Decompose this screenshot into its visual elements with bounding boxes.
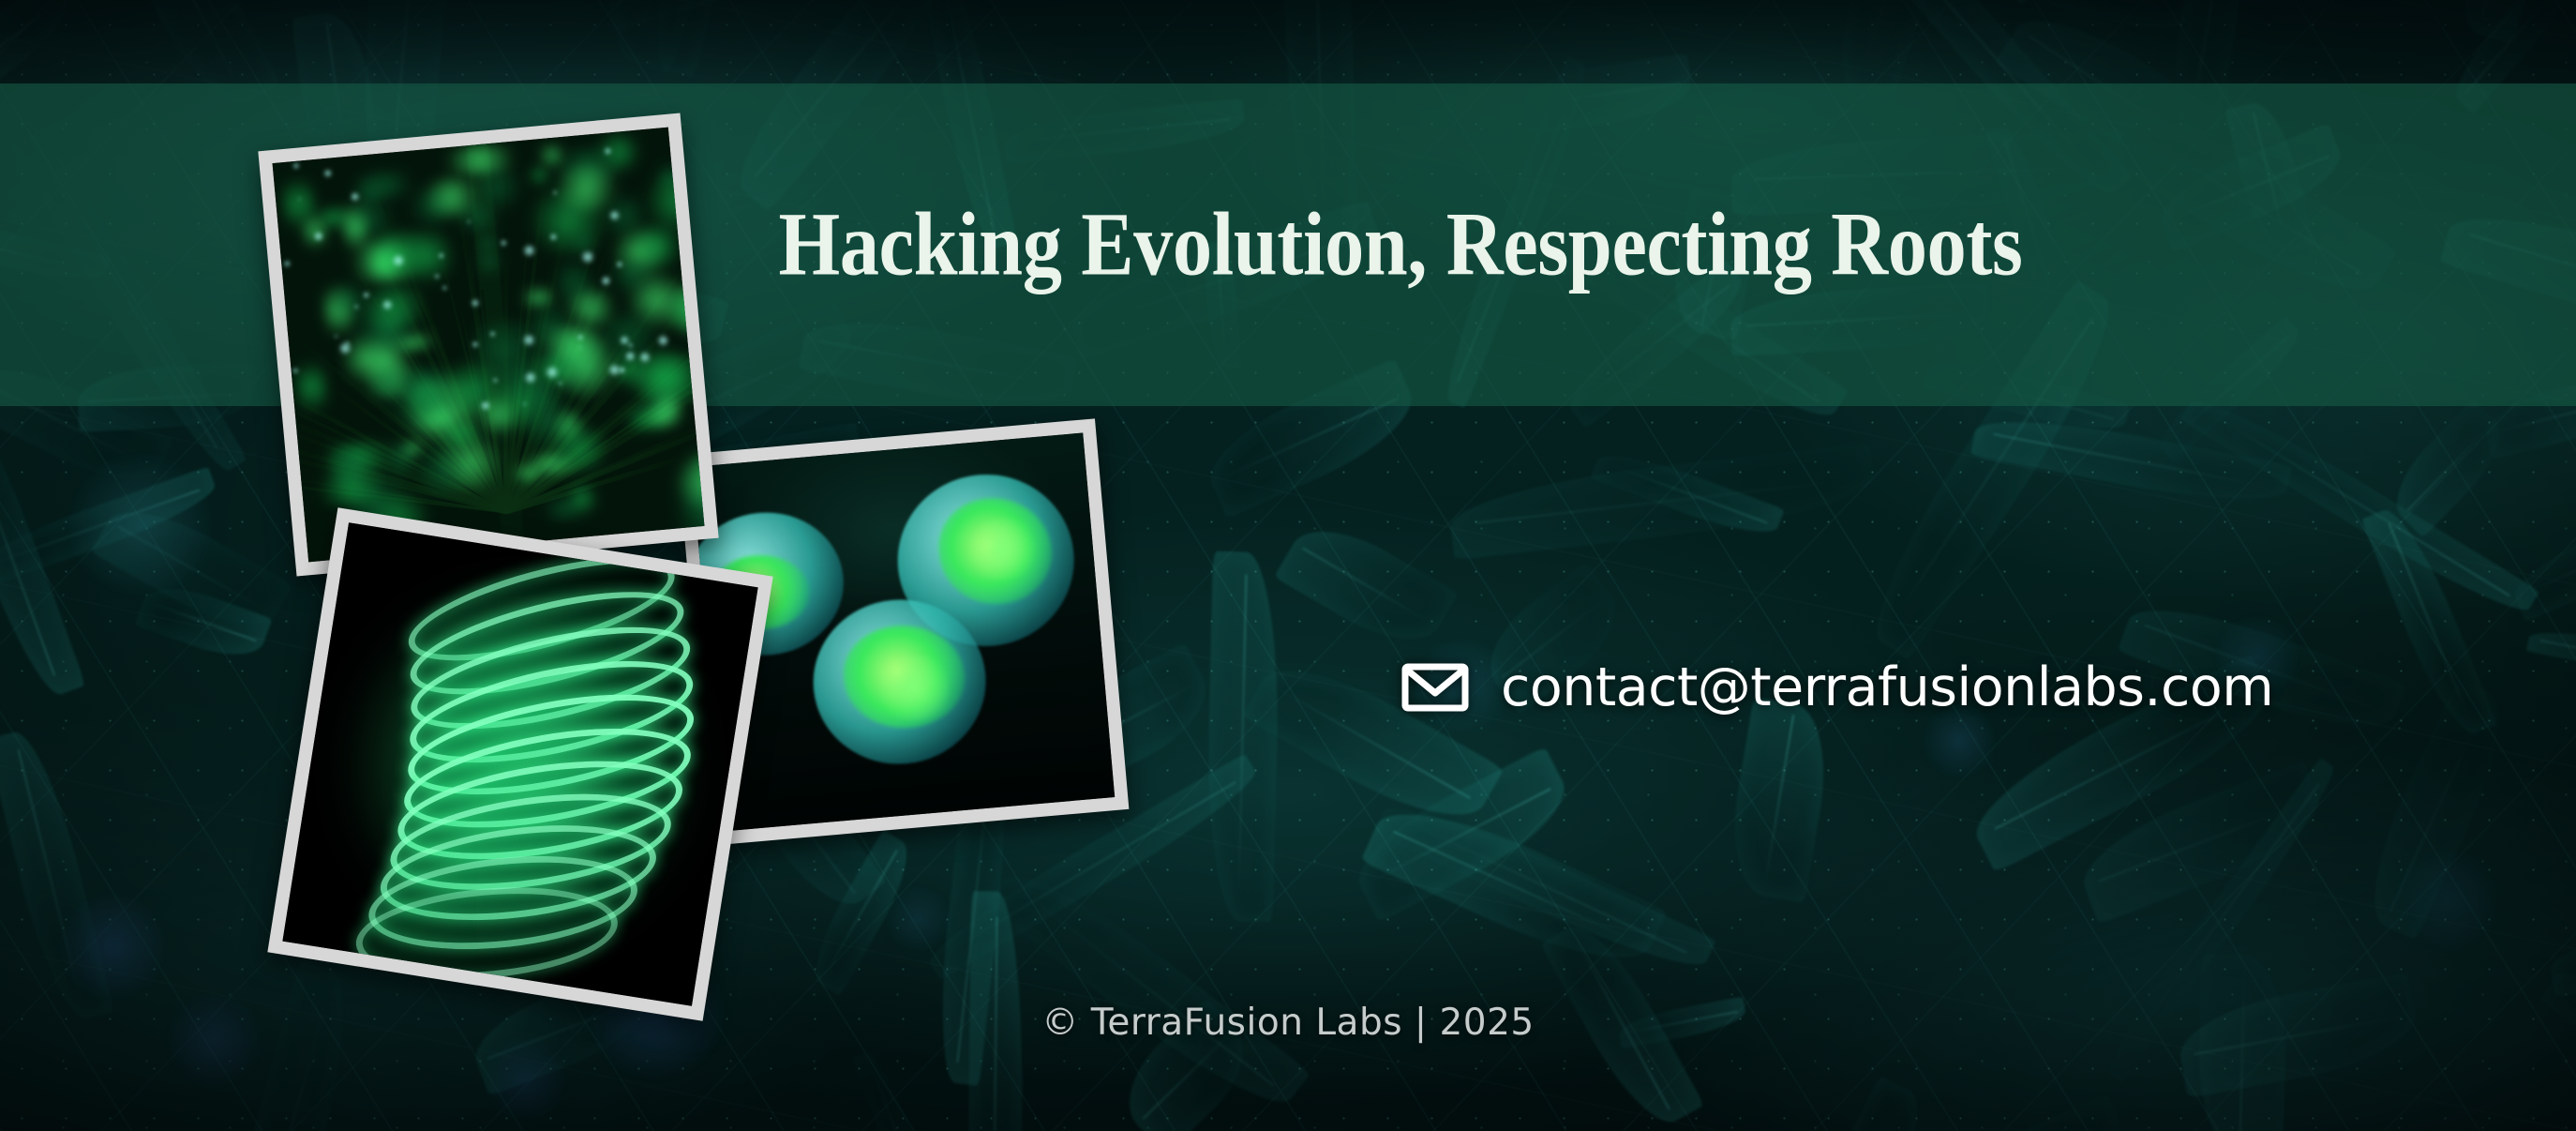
tree-canopy-image (273, 128, 705, 563)
tree-canopy-art (273, 128, 705, 563)
envelope-icon[interactable] (1401, 663, 1469, 712)
contact-email[interactable]: contact@terrafusionlabs.com (1501, 656, 2273, 718)
tree-canopy-photo[interactable] (258, 113, 718, 576)
photo-collage (0, 0, 1219, 1131)
banner-root: Hacking Evolution, Respecting Roots (0, 0, 2576, 1131)
helix-coil-photo[interactable] (267, 507, 772, 1021)
contact-block[interactable]: contact@terrafusionlabs.com (1401, 656, 2273, 718)
footer-copyright: © TerraFusion Labs | 2025 (0, 1002, 2576, 1044)
helix-coil-image (282, 522, 757, 1006)
helix-coil-art (282, 522, 757, 1006)
